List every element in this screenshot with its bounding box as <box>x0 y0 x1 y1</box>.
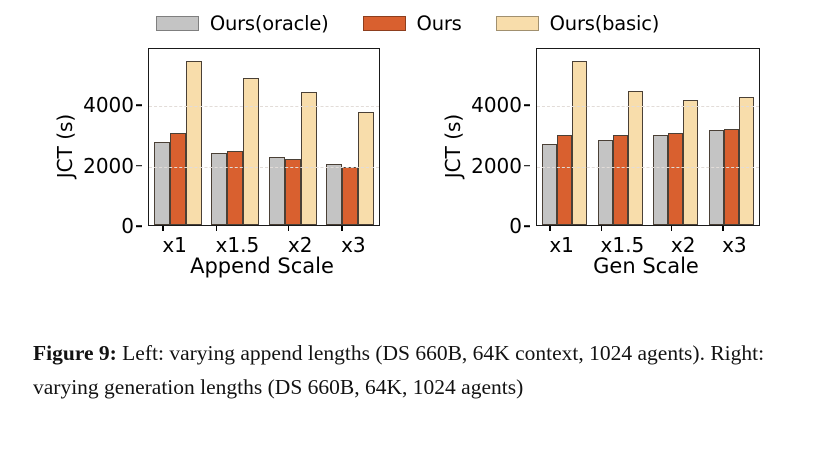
bar <box>683 100 698 225</box>
plot-area-right <box>536 48 760 226</box>
bar-group <box>269 49 317 225</box>
bar <box>598 140 613 225</box>
x-axis-tick-label: x1 <box>162 226 187 256</box>
bar <box>326 164 342 225</box>
figure-caption: Figure 9: Left: varying append lengths (… <box>33 336 783 404</box>
x-axis-tick-mark <box>341 226 343 231</box>
y-axis-tick-mark <box>136 225 142 227</box>
y-axis-tick-mark <box>524 165 530 167</box>
gridline <box>537 167 759 168</box>
y-axis-tick-mark <box>524 225 530 227</box>
bar <box>186 61 202 225</box>
y-axis-ticks-left: 020004000 <box>80 48 142 226</box>
bar <box>342 167 358 225</box>
bar-group <box>542 49 587 225</box>
x-axis-tick-mark <box>288 226 290 231</box>
bar <box>572 61 587 225</box>
legend-item-label: Ours(basic) <box>550 14 660 34</box>
bar <box>653 135 668 226</box>
bar <box>613 135 628 225</box>
x-axis-tick-mark <box>722 226 724 231</box>
y-axis-tick-mark <box>524 105 530 107</box>
y-axis-ticks-right: 020004000 <box>468 48 530 226</box>
bar <box>668 133 683 225</box>
bar-group <box>326 49 374 225</box>
legend-item-label: Ours <box>417 14 462 34</box>
x-axis-tick-label: x1.5 <box>216 226 260 256</box>
figure-9: Ours(oracle)OursOurs(basic) JCT (s) 0200… <box>0 0 815 465</box>
bar <box>301 92 317 225</box>
figure-caption-text: Left: varying append lengths (DS 660B, 6… <box>33 341 764 399</box>
x-axis-tick-mark <box>549 226 551 231</box>
y-axis-tick-label: 2000 <box>471 156 522 176</box>
bar <box>724 129 739 225</box>
bar <box>542 144 557 225</box>
y-axis-tick-label: 4000 <box>83 95 134 115</box>
gridline <box>149 106 379 107</box>
x-axis-tick-mark <box>601 226 603 231</box>
x-axis-tick-mark <box>671 226 673 231</box>
y-axis-tick-label: 0 <box>509 216 522 236</box>
x-axis-label-left: Append Scale <box>112 256 412 277</box>
legend-swatch-icon <box>363 16 406 31</box>
x-axis-tick-label: x3 <box>722 226 747 256</box>
bar <box>211 153 227 225</box>
legend-item: Ours <box>363 14 462 34</box>
legend-item: Ours(basic) <box>496 14 660 34</box>
bar-groups-left <box>149 49 379 225</box>
plot-area-left <box>148 48 380 226</box>
legend-item-label: Ours(oracle) <box>210 14 329 34</box>
x-axis-tick-mark <box>216 226 218 231</box>
x-axis-tick-mark <box>162 226 164 231</box>
gridline <box>149 167 379 168</box>
x-axis-tick-label: x2 <box>288 226 313 256</box>
x-axis-tick-label: x2 <box>671 226 696 256</box>
bar <box>170 133 186 225</box>
x-axis-ticks-left: x1x1.5x2x3 <box>148 226 380 256</box>
bar-groups-right <box>537 49 759 225</box>
x-axis-tick-label: x3 <box>341 226 366 256</box>
figure-caption-label: Figure 9: <box>33 341 117 365</box>
x-axis-tick-label: x1.5 <box>601 226 645 256</box>
bar <box>243 78 259 225</box>
bar-group <box>598 49 643 225</box>
x-axis-label-right: Gen Scale <box>500 256 792 277</box>
y-axis-tick-label: 0 <box>121 216 134 236</box>
y-axis-tick-mark <box>136 105 142 107</box>
bar <box>557 135 572 225</box>
legend-item: Ours(oracle) <box>156 14 329 34</box>
y-axis-tick-label: 4000 <box>471 95 522 115</box>
bar <box>709 130 724 225</box>
bar-group <box>154 49 202 225</box>
bar <box>154 142 170 225</box>
bar <box>227 151 243 225</box>
y-axis-label-right: JCT (s) <box>440 56 466 236</box>
bar-group <box>653 49 698 225</box>
y-axis-tick-mark <box>136 165 142 167</box>
bar-group <box>211 49 259 225</box>
bar <box>285 159 301 225</box>
bar <box>628 91 643 225</box>
x-axis-tick-label: x1 <box>549 226 574 256</box>
y-axis-label-left: JCT (s) <box>52 56 78 236</box>
y-axis-tick-label: 2000 <box>83 156 134 176</box>
x-axis-ticks-right: x1x1.5x2x3 <box>536 226 760 256</box>
gridline <box>537 106 759 107</box>
legend-swatch-icon <box>496 16 539 31</box>
bar <box>739 97 754 225</box>
bar-group <box>709 49 754 225</box>
legend-swatch-icon <box>156 16 199 31</box>
bar <box>358 112 374 225</box>
chart-legend: Ours(oracle)OursOurs(basic) <box>0 14 815 34</box>
